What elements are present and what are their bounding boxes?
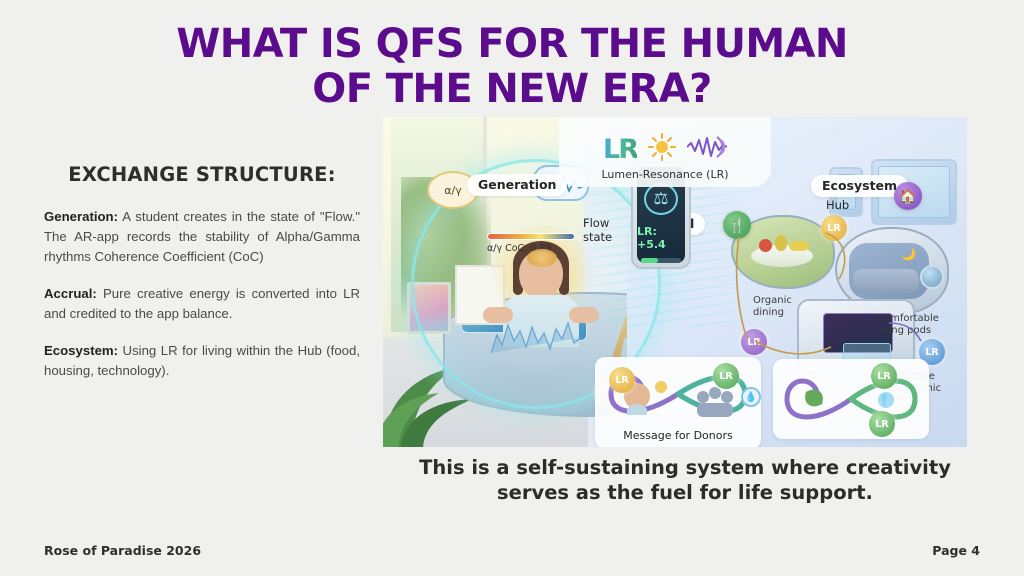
lr-header-icons: LR xyxy=(603,133,727,166)
exchange-structure-column: EXCHANGE STRUCTURE: Generation: A studen… xyxy=(44,163,360,398)
message-for-donors-card: LR LR 💧 Message for Donors xyxy=(595,357,761,447)
lr-header-caption: Lumen-Resonance (LR) xyxy=(601,168,728,181)
section-heading: EXCHANGE STRUCTURE: xyxy=(44,163,360,186)
loop-card-lr-coin: LR xyxy=(869,411,895,437)
footer-page-number: Page 4 xyxy=(932,543,980,558)
fruit-pear-icon xyxy=(775,235,787,251)
lr-coin-dining: LR xyxy=(741,329,767,355)
page-title: WHAT IS QFS FOR THE HUMAN OF THE NEW ERA… xyxy=(140,22,884,112)
sustainability-infinity-loop-icon xyxy=(780,366,922,432)
waveform-icon xyxy=(687,134,727,165)
card-caption-donors: Message for Donors xyxy=(595,429,761,442)
pod-bed xyxy=(853,269,919,293)
lr-coin-hub: LR xyxy=(821,215,847,241)
label-generation: Generation xyxy=(467,174,567,196)
phone-progress-bar xyxy=(641,258,681,263)
fruit-banana-icon xyxy=(789,241,809,251)
phone-lr-amount: LR: +5.4 xyxy=(637,225,685,251)
lumen-resonance-header: LR Lumen- xyxy=(559,117,771,187)
fruit-apple-icon xyxy=(759,239,772,252)
paragraph-accrual: Accrual: Pure creative energy is convert… xyxy=(44,284,360,324)
paragraph-lead-ecosystem: Ecosystem: xyxy=(44,343,118,358)
paragraph-ecosystem: Ecosystem: Using LR for living within th… xyxy=(44,341,360,381)
loop-card-leaf-coin: LR xyxy=(871,363,897,389)
coc-gauge-bar xyxy=(487,233,575,240)
label-flow-state: Flow state xyxy=(583,217,612,244)
footer-brand: Rose of Paradise 2026 xyxy=(44,543,201,558)
summary-caption: This is a self-sustaining system where c… xyxy=(400,455,970,506)
sustainability-loop-card: LR LR xyxy=(773,359,929,439)
paragraph-lead-accrual: Accrual: xyxy=(44,286,97,301)
fork-knife-icon: 🍴 xyxy=(723,211,751,239)
moon-icon: 🌙 xyxy=(901,247,916,261)
infographic-illustration: α/γ α/γ CoC: 0.89 Generation Flow state … xyxy=(383,117,967,447)
paragraph-generation: Generation: A student creates in the sta… xyxy=(44,207,360,267)
label-hub: Hub xyxy=(826,199,849,213)
card-lr-coin-left: LR xyxy=(609,367,635,393)
brain-glow-icon xyxy=(527,249,557,267)
lr-logo: LR xyxy=(603,136,637,163)
label-organic-dining: Organic dining xyxy=(753,295,792,319)
home-icon: 🏠 xyxy=(894,182,922,210)
sun-icon xyxy=(648,133,676,166)
card-lr-coin-right: LR xyxy=(713,363,739,389)
paragraph-lead-generation: Generation: xyxy=(44,209,118,224)
label-living-pods: Comfortable living pods xyxy=(877,313,939,337)
pod-window xyxy=(920,265,944,289)
scales-balance-icon: ⚖ xyxy=(644,183,678,215)
water-drop-icon: 💧 xyxy=(741,387,761,407)
